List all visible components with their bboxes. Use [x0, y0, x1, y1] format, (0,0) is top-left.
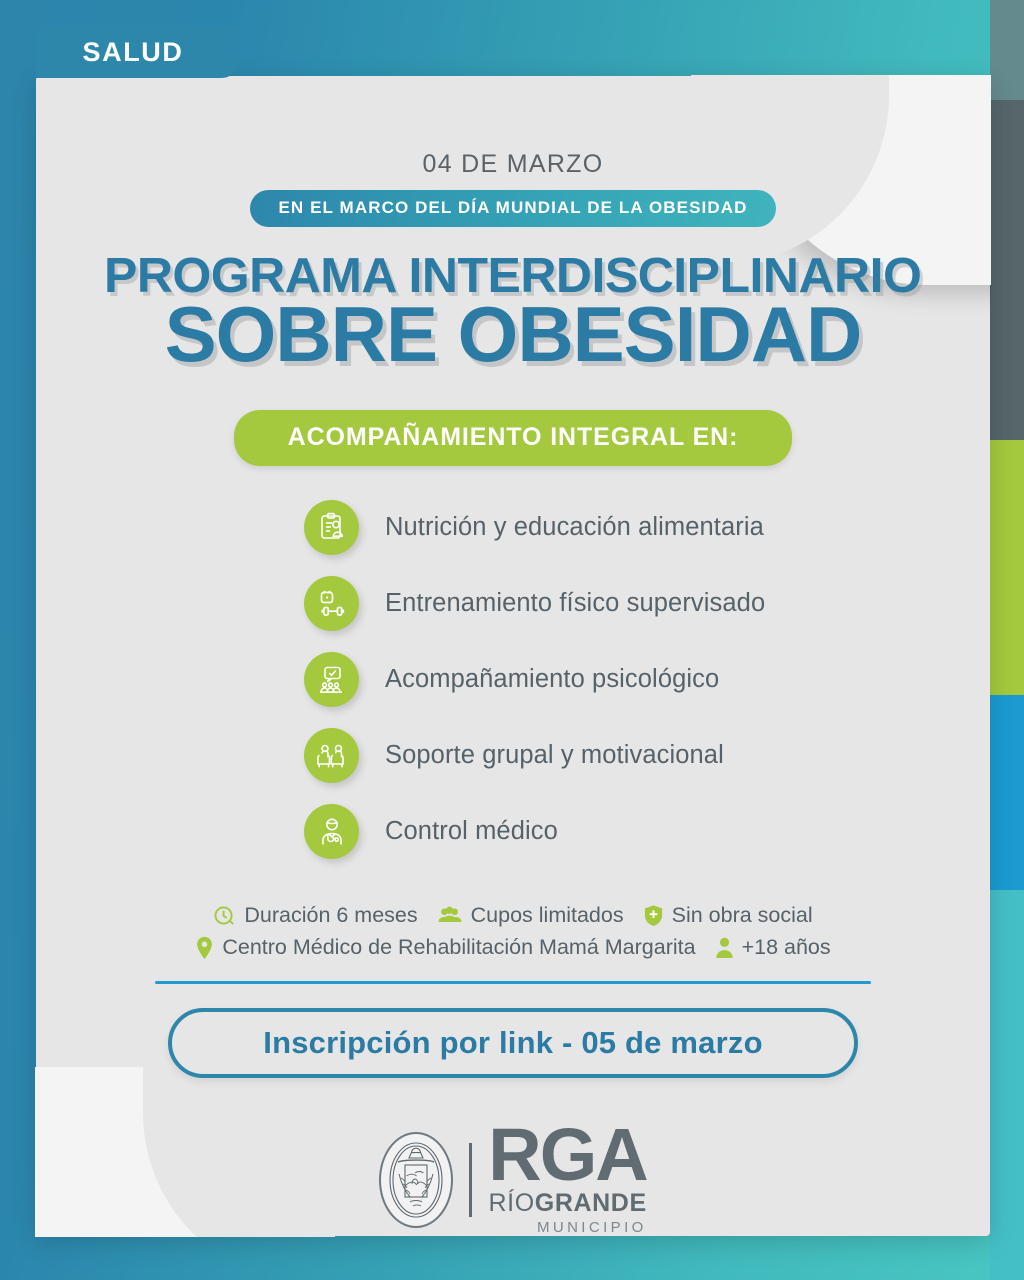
coat-of-arms-icon [379, 1132, 453, 1228]
info-row-1: Duración 6 meses [213, 903, 812, 928]
poster-card: 04 DE MARZO EN EL MARCO DEL DÍA MUNDIAL … [36, 76, 990, 1236]
logo-divider [469, 1143, 472, 1217]
info-label: Cupos limitados [471, 903, 624, 928]
info-label: Duración 6 meses [244, 903, 417, 928]
info-label: +18 años [742, 935, 831, 960]
municipal-logo: RGA RÍOGRANDE MUNICIPIO [379, 1124, 646, 1236]
dumbbell-icon [304, 576, 359, 631]
info-row-2: Centro Médico de Rehabilitación Mamá Mar… [195, 935, 830, 960]
person-icon [715, 936, 734, 959]
service-label: Acompañamiento psicológico [385, 665, 719, 694]
section-divider [155, 981, 871, 984]
info-label: Sin obra social [672, 903, 813, 928]
edge-bar-dark-slate [990, 100, 1024, 440]
service-item: Nutrición y educación alimentaria [304, 500, 990, 555]
therapy-chairs-icon [304, 728, 359, 783]
shield-plus-icon [643, 904, 664, 927]
services-banner: ACOMPAÑAMIENTO INTEGRAL EN: [234, 410, 793, 466]
clock-icon [213, 904, 236, 927]
service-label: Nutrición y educación alimentaria [385, 513, 764, 542]
info-location: Centro Médico de Rehabilitación Mamá Mar… [195, 935, 695, 960]
service-item: Acompañamiento psicológico [304, 652, 990, 707]
inscription-label: Inscripción por link - 05 de marzo [263, 1025, 762, 1061]
rga-sub-text: RÍOGRANDE [488, 1189, 646, 1218]
edge-bar-slate-teal [990, 0, 1024, 100]
rga-wordmark: RGA RÍOGRANDE MUNICIPIO [488, 1124, 646, 1236]
edge-bar-cyan [990, 890, 1024, 1280]
info-no-insurance: Sin obra social [643, 903, 813, 928]
title-line-2: SOBRE OBESIDAD [112, 296, 913, 372]
services-list: Nutrición y educación alimentaria [36, 500, 990, 859]
rga-sub-light: RÍO [489, 1189, 535, 1217]
rga-sub-bold: GRANDE [535, 1189, 647, 1217]
rga-main-text: RGA [488, 1124, 646, 1187]
users-icon [437, 904, 463, 927]
doctor-icon [304, 804, 359, 859]
service-label: Entrenamiento físico supervisado [385, 589, 765, 618]
service-item: Control médico [304, 804, 990, 859]
clipboard-nutrition-icon [304, 500, 359, 555]
rga-muni-text: MUNICIPIO [488, 1219, 646, 1236]
poster-title: PROGRAMA INTERDISCIPLINARIO SOBRE OBESID… [112, 252, 913, 372]
info-label: Centro Médico de Rehabilitación Mamá Mar… [222, 935, 695, 960]
service-item: Soporte grupal y motivacional [304, 728, 990, 783]
edge-bar-lime [990, 440, 1024, 695]
poster-root: 04 DE MARZO EN EL MARCO DEL DÍA MUNDIAL … [0, 0, 1024, 1280]
edge-color-bars [990, 0, 1024, 1280]
salud-tab-label: SALUD [83, 37, 184, 68]
service-label: Soporte grupal y motivacional [385, 741, 724, 770]
info-duration: Duración 6 meses [213, 903, 417, 928]
service-item: Entrenamiento físico supervisado [304, 576, 990, 631]
event-date: 04 DE MARZO [423, 150, 604, 179]
service-label: Control médico [385, 817, 558, 846]
location-pin-icon [195, 936, 214, 960]
info-slots: Cupos limitados [437, 903, 624, 928]
edge-bar-blue [990, 695, 1024, 890]
info-block: Duración 6 meses [36, 903, 990, 960]
framework-badge: EN EL MARCO DEL DÍA MUNDIAL DE LA OBESID… [250, 190, 775, 227]
info-age: +18 años [715, 935, 831, 960]
group-session-icon [304, 652, 359, 707]
inscription-button[interactable]: Inscripción por link - 05 de marzo [168, 1008, 858, 1078]
salud-tab: SALUD [36, 26, 238, 78]
poster-content: 04 DE MARZO EN EL MARCO DEL DÍA MUNDIAL … [36, 76, 990, 1236]
title-line-1: PROGRAMA INTERDISCIPLINARIO [104, 252, 921, 300]
